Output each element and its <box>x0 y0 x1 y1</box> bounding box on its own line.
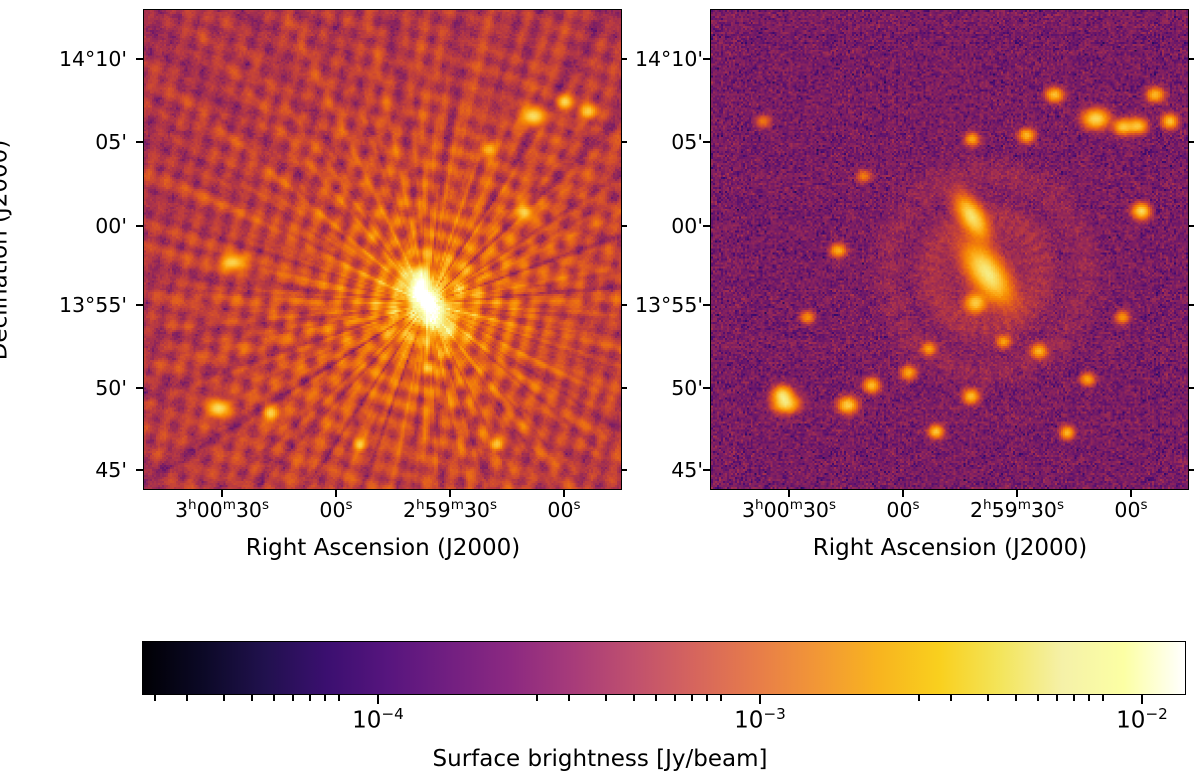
colorbar-minor-tick-10 <box>568 695 570 701</box>
x-tick-label-left-1: 00s <box>319 499 352 520</box>
y-tick-right-3 <box>703 304 710 306</box>
y-tick-label-left-2: 00' <box>0 216 127 237</box>
x-axis-title-left: Right Ascension (J2000) <box>246 537 521 560</box>
image-panel-left[interactable] <box>143 9 622 490</box>
y-tick-right-1 <box>703 141 710 143</box>
x-tick-right-0 <box>788 490 790 497</box>
x-tick-left-1 <box>335 490 337 497</box>
y-tick-left-4 <box>136 387 143 389</box>
x-tick-label-right-0: 3h00m30s <box>742 499 836 520</box>
x-tick-right-2 <box>1016 490 1018 497</box>
colorbar-tick-label-0: 10−4 <box>352 707 404 733</box>
x-tick-right-1 <box>902 490 904 497</box>
colorbar-minor-tick-18 <box>918 695 920 701</box>
colorbar-gradient <box>143 642 1185 694</box>
colorbar-minor-tick-23 <box>1056 695 1058 701</box>
colorbar-title: Surface brightness [Jy/beam] <box>433 748 768 771</box>
y-tick-right-0 <box>703 58 710 60</box>
colorbar-minor-tick-15 <box>691 695 693 701</box>
colorbar-minor-tick-4 <box>273 695 275 701</box>
colorbar-minor-tick-25 <box>1088 695 1090 701</box>
x-tick-label-left-3: 00s <box>547 499 580 520</box>
y-tick-left-3 <box>136 304 143 306</box>
colorbar-minor-tick-14 <box>674 695 676 701</box>
x-tick-left-3 <box>563 490 565 497</box>
y-tick-label-left-0: 14°10' <box>0 49 127 70</box>
x-tick-left-2 <box>449 490 451 497</box>
colorbar-minor-tick-9 <box>536 695 538 701</box>
x-tick-label-right-1: 00s <box>886 499 919 520</box>
colorbar-minor-tick-2 <box>223 695 225 701</box>
image-panel-right[interactable] <box>710 9 1189 490</box>
colorbar-major-tick-1 <box>759 695 761 704</box>
y-tick-label-right-1: 05' <box>567 132 703 153</box>
y-tick-right-mirror-0 <box>1189 58 1194 60</box>
colorbar[interactable] <box>142 641 1186 695</box>
radio-image-figure: 14°10'14°10'05'05'00'00'13°55'13°55'50'5… <box>0 0 1200 784</box>
y-tick-label-right-4: 50' <box>567 378 703 399</box>
colorbar-tick-label-2: 10−2 <box>1116 707 1168 733</box>
y-tick-left-2 <box>136 225 143 227</box>
colorbar-minor-tick-6 <box>309 695 311 701</box>
colorbar-minor-tick-0 <box>154 695 156 701</box>
y-tick-left-0 <box>136 58 143 60</box>
y-tick-right-mirror-2 <box>1189 225 1194 227</box>
colorbar-minor-tick-3 <box>251 695 253 701</box>
colorbar-minor-tick-22 <box>1037 695 1039 701</box>
clean-image-canvas <box>711 10 1188 489</box>
colorbar-minor-tick-8 <box>338 695 340 701</box>
dirty-image-canvas <box>144 10 621 489</box>
x-tick-left-0 <box>221 490 223 497</box>
colorbar-minor-tick-7 <box>324 695 326 701</box>
y-tick-right-2 <box>703 225 710 227</box>
y-axis-title-left: Declination (J2000) <box>0 80 12 420</box>
colorbar-minor-tick-12 <box>633 695 635 701</box>
colorbar-minor-tick-21 <box>1015 695 1017 701</box>
y-tick-right-mirror-3 <box>1189 304 1194 306</box>
x-axis-title-right: Right Ascension (J2000) <box>813 537 1088 560</box>
y-tick-right-4 <box>703 387 710 389</box>
y-tick-label-left-1: 05' <box>0 132 127 153</box>
colorbar-major-tick-0 <box>377 695 379 704</box>
x-tick-right-3 <box>1130 490 1132 497</box>
y-tick-label-right-2: 00' <box>567 216 703 237</box>
colorbar-minor-tick-16 <box>706 695 708 701</box>
colorbar-minor-tick-20 <box>987 695 989 701</box>
colorbar-minor-tick-13 <box>655 695 657 701</box>
y-tick-left-1 <box>136 141 143 143</box>
y-tick-label-left-5: 45' <box>0 460 127 481</box>
colorbar-minor-tick-11 <box>605 695 607 701</box>
colorbar-minor-tick-5 <box>292 695 294 701</box>
colorbar-tick-label-1: 10−3 <box>734 707 786 733</box>
y-tick-label-right-5: 45' <box>567 460 703 481</box>
x-tick-label-left-2: 2h59m30s <box>403 499 497 520</box>
y-tick-label-right-0: 14°10' <box>567 49 703 70</box>
colorbar-wrap <box>142 641 1186 695</box>
x-tick-label-right-3: 00s <box>1114 499 1147 520</box>
colorbar-minor-tick-17 <box>720 695 722 701</box>
y-tick-label-left-4: 50' <box>0 378 127 399</box>
colorbar-minor-tick-19 <box>950 695 952 701</box>
y-tick-label-right-3: 13°55' <box>567 295 703 316</box>
y-tick-right-mirror-4 <box>1189 387 1194 389</box>
y-tick-left-5 <box>136 469 143 471</box>
x-tick-label-left-0: 3h00m30s <box>175 499 269 520</box>
colorbar-minor-tick-1 <box>186 695 188 701</box>
y-tick-right-5 <box>703 469 710 471</box>
y-tick-right-mirror-5 <box>1189 469 1194 471</box>
y-tick-label-left-3: 13°55' <box>0 295 127 316</box>
colorbar-minor-tick-24 <box>1073 695 1075 701</box>
colorbar-minor-tick-26 <box>1102 695 1104 701</box>
x-tick-label-right-2: 2h59m30s <box>970 499 1064 520</box>
colorbar-major-tick-2 <box>1141 695 1143 704</box>
y-tick-right-mirror-1 <box>1189 141 1194 143</box>
